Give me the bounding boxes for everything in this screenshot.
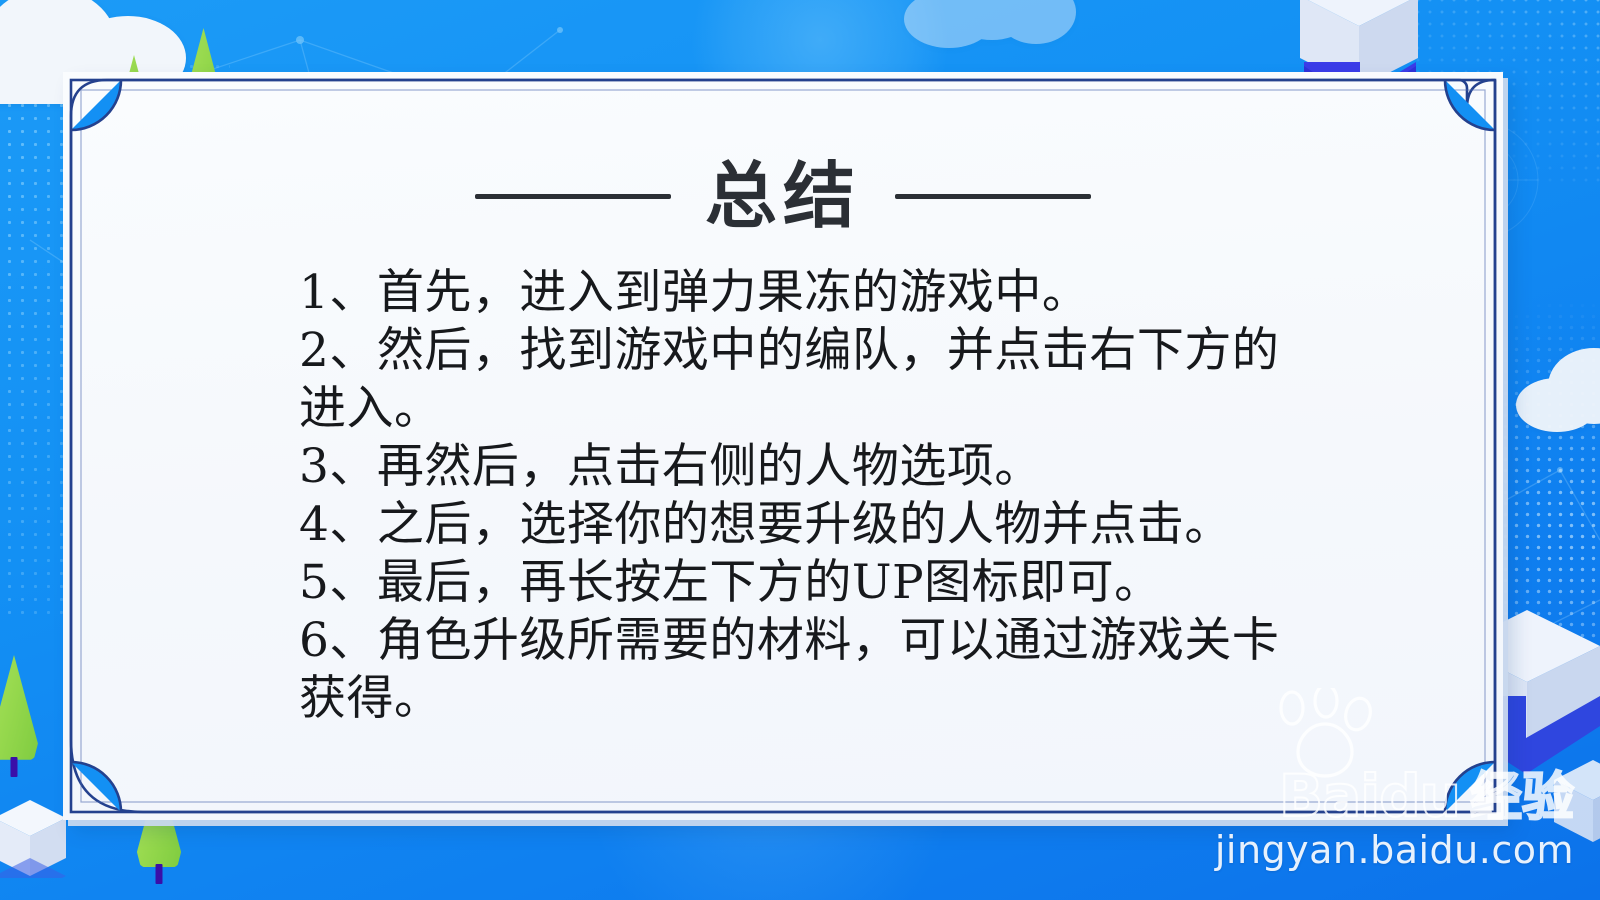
summary-step: 3、再然后，点击右侧的人物选项。	[285, 438, 1317, 496]
title-row: 总结	[63, 160, 1503, 232]
title-rule-left-icon	[475, 194, 671, 199]
summary-step: 5、最后，再长按左下方的UP图标即可。	[285, 554, 1317, 612]
title-rule-right-icon	[895, 194, 1091, 199]
tree-icon	[0, 655, 40, 763]
summary-step: 4、之后，选择你的想要升级的人物并点击。	[285, 496, 1317, 554]
page-title: 总结	[705, 160, 861, 232]
content-card: 总结 1、首先，进入到弹力果冻的游戏中。 2、然后，找到游戏中的编队，并点击右下…	[63, 72, 1503, 820]
summary-step: 2、然后，找到游戏中的编队，并点击右下方的进入。	[285, 322, 1317, 438]
isometric-cube-icon	[1554, 760, 1600, 844]
card-content: 总结 1、首先，进入到弹力果冻的游戏中。 2、然后，找到游戏中的编队，并点击右下…	[63, 72, 1503, 820]
cloud-icon	[900, 0, 1080, 52]
summary-steps-list: 1、首先，进入到弹力果冻的游戏中。 2、然后，找到游戏中的编队，并点击右下方的进…	[285, 264, 1317, 728]
cloud-icon	[1516, 348, 1600, 434]
watermark-url: jingyan.baidu.com	[1215, 828, 1574, 872]
slide-canvas: 总结 1、首先，进入到弹力果冻的游戏中。 2、然后，找到游戏中的编队，并点击右下…	[0, 0, 1600, 900]
summary-step: 6、角色升级所需要的材料，可以通过游戏关卡获得。	[285, 612, 1317, 728]
summary-step: 1、首先，进入到弹力果冻的游戏中。	[285, 264, 1317, 322]
isometric-cube-icon	[0, 800, 66, 878]
